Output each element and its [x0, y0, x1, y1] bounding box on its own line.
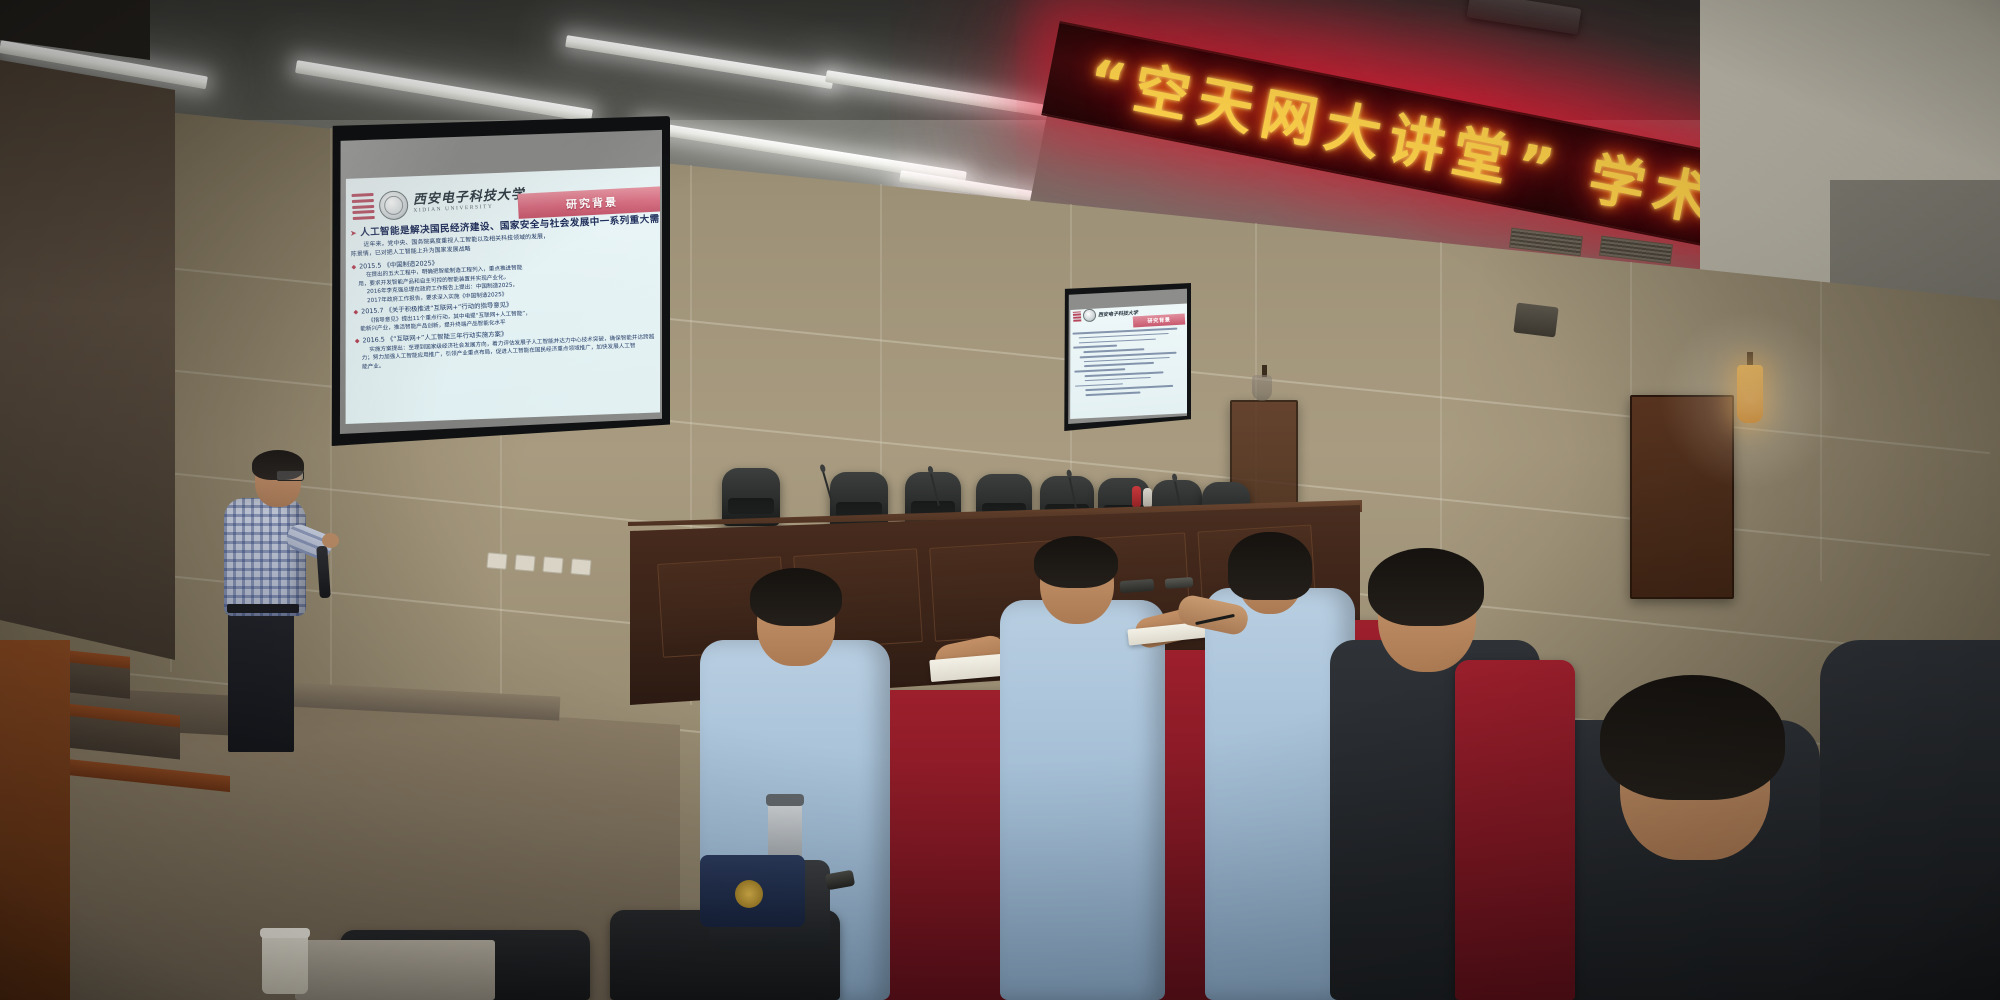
thermos-cap: [766, 794, 804, 806]
lecture-hall-photo: “空天网大讲堂” 学术讲座: [0, 0, 2000, 1000]
slide-line: [1075, 383, 1123, 387]
slide-line: [1085, 371, 1164, 376]
audience-torso: [1000, 600, 1165, 1000]
paper-cup: [262, 932, 308, 994]
presenter-belt: [227, 604, 299, 613]
audience-hair: [1228, 532, 1312, 600]
slide-line: [1085, 392, 1140, 396]
slide-title: 研究背景: [566, 193, 619, 212]
audience-hair: [1034, 536, 1118, 588]
conference-chair: [722, 468, 780, 526]
left-wall-band: [0, 60, 175, 680]
wall-speaker-icon: [1252, 375, 1272, 401]
stripes-icon: [1073, 311, 1082, 321]
bullet-arrow-icon: ➤: [350, 229, 358, 238]
slide-title-bar: 研究背景: [1133, 314, 1186, 328]
water-bottle: [1132, 486, 1141, 508]
secondary-projection-screen: 西安电子科技大学 研究背景: [1063, 283, 1191, 431]
slide-line: [1083, 348, 1144, 353]
water-bottle: [1143, 488, 1152, 508]
audience-chair: [1455, 660, 1575, 1000]
main-projection-screen: 西安电子科技大学 XIDIAN UNIVERSITY 研究背景 ➤人工智能是解决…: [330, 116, 670, 446]
light-switch-panel[interactable]: [486, 552, 507, 570]
desk-equipment: [1165, 577, 1194, 589]
stripes-icon: [352, 193, 375, 220]
diamond-bullet-icon: ◆: [351, 263, 356, 270]
university-seal-icon: [378, 190, 408, 220]
presentation-slide: 西安电子科技大学 XIDIAN UNIVERSITY 研究背景 ➤人工智能是解决…: [344, 166, 660, 424]
slide-line: [1084, 357, 1170, 363]
slide-body: ➤人工智能是解决国民经济建设、国家安全与社会发展中一系列重大需求问题的开性基础 …: [350, 211, 659, 424]
slide-line: [1084, 362, 1154, 367]
tile-line: [1440, 242, 1442, 572]
slide-title: 研究背景: [1147, 316, 1171, 324]
slide-line: [1079, 338, 1156, 343]
presentation-slide: 西安电子科技大学 研究背景: [1069, 303, 1187, 419]
light-switch-panel[interactable]: [542, 556, 563, 574]
paper-cup-rim: [260, 928, 310, 938]
slide-line: [1085, 377, 1151, 382]
audience-hair: [750, 568, 842, 626]
audience-hair: [1368, 548, 1484, 626]
slide-text-lines: [1072, 327, 1185, 399]
wall-speaker-icon: [1513, 303, 1558, 338]
stage-side-wall: [0, 640, 70, 1000]
light-switch-panel[interactable]: [570, 558, 591, 576]
audience-torso: [1820, 640, 2000, 1000]
glasses-icon: [276, 470, 304, 481]
diamond-bullet-icon: ◆: [353, 309, 358, 316]
sconce-glow: [1660, 310, 1840, 490]
university-seal-icon: [1083, 309, 1097, 323]
slide-line: [1074, 368, 1125, 372]
university-name: 西安电子科技大学 XIDIAN UNIVERSITY: [413, 188, 526, 214]
desk-equipment: [1120, 579, 1155, 593]
foreground-desk: [295, 940, 495, 1000]
presenter-torso: [224, 498, 306, 616]
audience-hair: [1600, 675, 1785, 800]
presenter-legs: [228, 600, 294, 752]
slide-line: [1085, 385, 1173, 391]
slide-line: [1073, 345, 1117, 349]
light-switch-panel[interactable]: [514, 554, 535, 572]
bag-emblem-icon: [735, 880, 763, 908]
diamond-bullet-icon: ◆: [355, 338, 360, 345]
